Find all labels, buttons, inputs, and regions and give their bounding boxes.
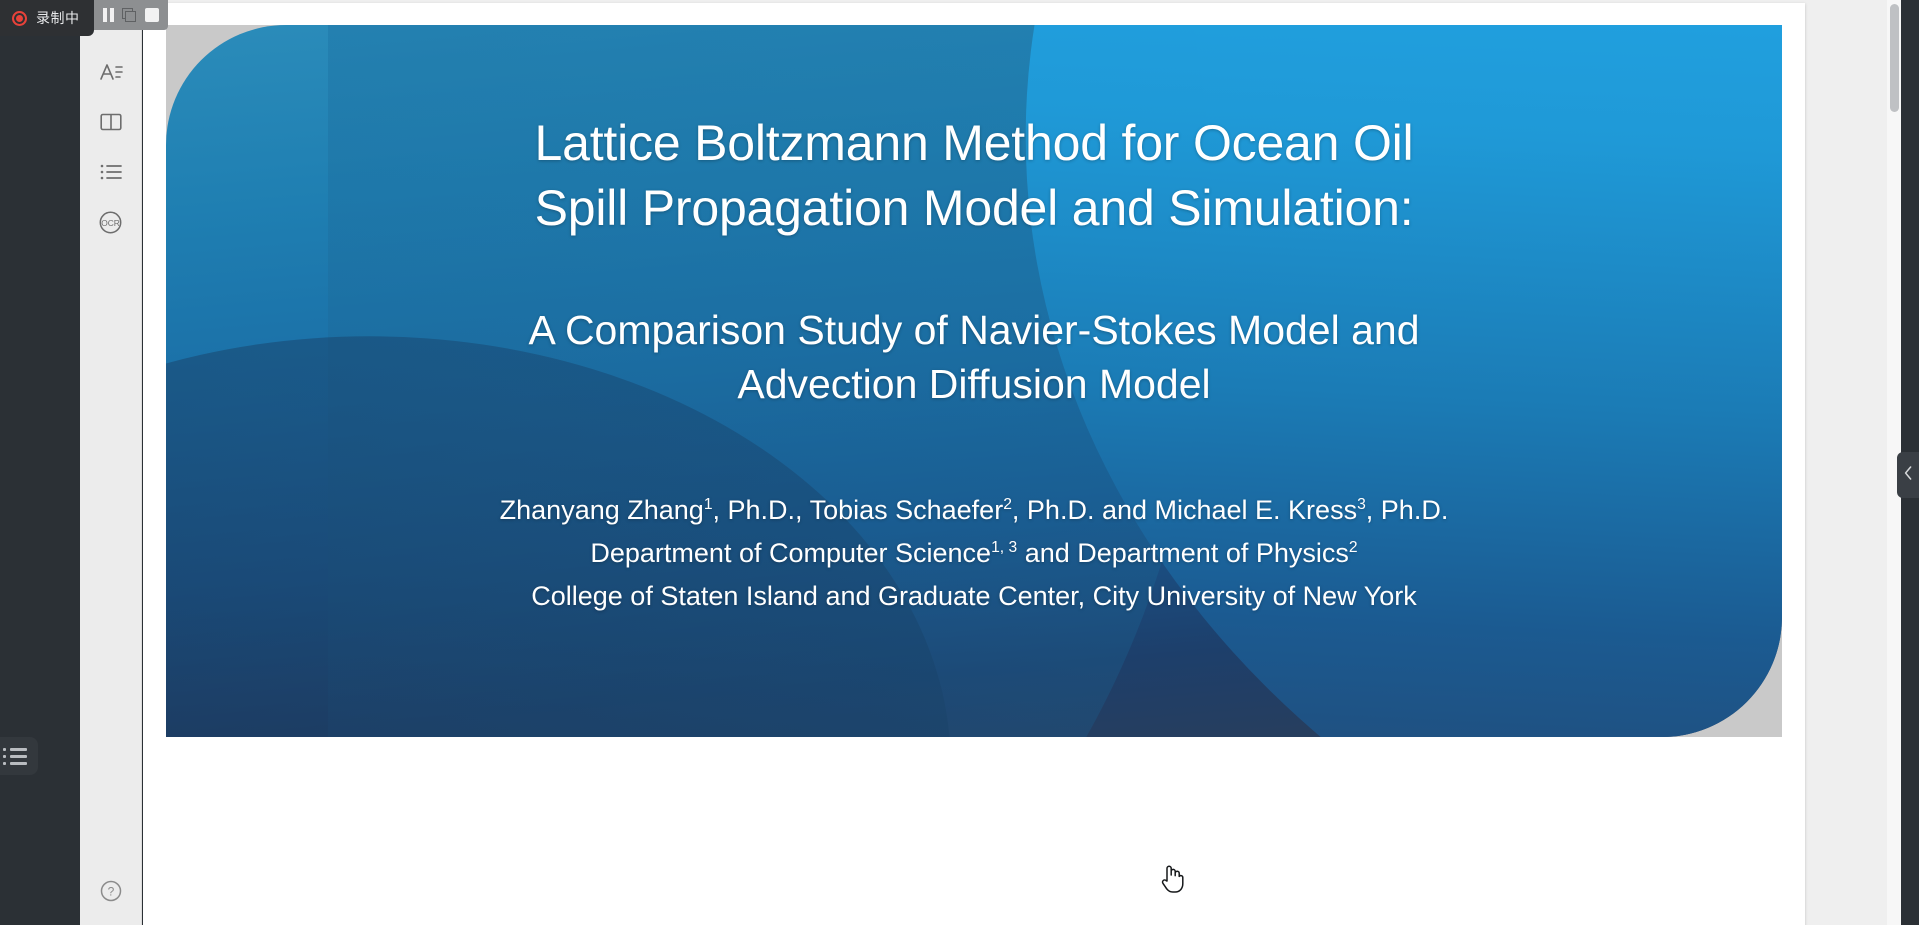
slide-author-block: Zhanyang Zhang1, Ph.D., Tobias Schaefer2… [500, 489, 1449, 617]
slide-page: Lattice Boltzmann Method for Ocean Oil S… [143, 3, 1805, 925]
slide-subtitle-line-2: Advection Diffusion Model [474, 357, 1474, 411]
slide-subtitle: A Comparison Study of Navier-Stokes Mode… [474, 303, 1474, 411]
author-line-2: Department of Computer Science1, 3 and D… [500, 532, 1449, 575]
slide-artwork: Lattice Boltzmann Method for Ocean Oil S… [166, 25, 1782, 737]
recording-status-label: 录制中 [36, 8, 80, 28]
outline-list-icon [99, 162, 123, 182]
tool-sidebar: OCR ? [80, 0, 142, 925]
ocr-icon: OCR [98, 210, 123, 235]
slide-title-line-2: Spill Propagation Model and Simulation: [454, 176, 1494, 241]
slide-canvas: Lattice Boltzmann Method for Ocean Oil S… [166, 25, 1782, 737]
document-viewport[interactable]: Lattice Boltzmann Method for Ocean Oil S… [143, 0, 1901, 925]
app-root: OCR ? Lattic [0, 0, 1919, 925]
sidebar-item-outline[interactable] [91, 152, 131, 192]
scrollbar-thumb[interactable] [1890, 4, 1899, 112]
sidebar-item-help[interactable]: ? [91, 871, 131, 911]
svg-text:?: ? [108, 885, 115, 899]
pause-icon[interactable] [103, 8, 114, 22]
slide-title: Lattice Boltzmann Method for Ocean Oil S… [454, 111, 1494, 241]
slide-text-block: Lattice Boltzmann Method for Ocean Oil S… [166, 25, 1782, 737]
list-outline-icon [3, 748, 27, 765]
sidebar-item-book-view[interactable] [91, 102, 131, 142]
left-rail-bottom-group [0, 737, 80, 925]
sidebar-item-text-format[interactable] [91, 52, 131, 92]
windows-switch-icon[interactable] [122, 8, 137, 23]
chevron-left-icon [1903, 465, 1914, 486]
list-outline-icon-button[interactable] [0, 737, 38, 775]
sidebar-item-ocr[interactable]: OCR [91, 202, 131, 242]
author-line-1: Zhanyang Zhang1, Ph.D., Tobias Schaefer2… [500, 489, 1449, 532]
help-circle-icon: ? [99, 879, 123, 903]
text-format-icon [99, 61, 123, 83]
recording-status-pill: 录制中 [0, 0, 94, 36]
slide-title-line-1: Lattice Boltzmann Method for Ocean Oil [454, 111, 1494, 176]
recording-toolbar: 录制中 [0, 0, 170, 40]
left-rail [0, 0, 80, 925]
record-dot-icon [12, 11, 27, 26]
book-split-view-icon [99, 111, 123, 133]
author-line-3: College of Staten Island and Graduate Ce… [500, 575, 1449, 618]
slide-subtitle-line-1: A Comparison Study of Navier-Stokes Mode… [474, 303, 1474, 357]
svg-text:OCR: OCR [101, 218, 120, 228]
collapse-panel-button[interactable] [1897, 452, 1919, 498]
recording-controls [94, 0, 168, 30]
stop-icon[interactable] [145, 8, 159, 22]
